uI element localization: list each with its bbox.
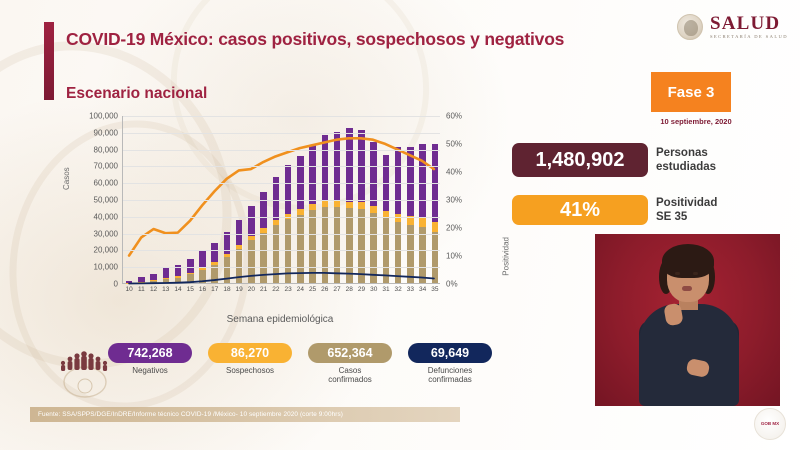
logo-text-block: SALUD SECRETARÍA DE SALUD [710, 14, 788, 40]
x-axis-tick-label: 27 [333, 286, 340, 293]
stat-personas-label-line1: Personas [656, 146, 716, 160]
y-axis-tick-label: 60,000 [94, 179, 118, 188]
legend-value-pill: 742,268 [108, 343, 192, 363]
grid-line [123, 116, 440, 117]
grid-line [123, 166, 440, 167]
phase-date: 10 septiembre, 2020 [651, 117, 741, 126]
legend-label: Casosconfirmados [308, 366, 392, 384]
grid-line [123, 133, 440, 134]
x-axis-tick-label: 23 [284, 286, 291, 293]
gob-mx-watermark-icon: GOB MX [754, 408, 786, 440]
x-axis-tick-label: 24 [297, 286, 304, 293]
legend-label-line2: confirmados [308, 375, 392, 384]
x-axis-tick-label: 28 [346, 286, 353, 293]
stat-positividad-label: Positividad SE 35 [656, 196, 717, 224]
legend-item: 86,270Sospechosos [208, 343, 292, 384]
legend-value-pill: 652,364 [308, 343, 392, 363]
y-axis-title: Casos [62, 167, 71, 190]
x-axis-tick-label: 34 [419, 286, 426, 293]
legend-label: Negativos [108, 366, 192, 375]
screenshot-root: COVID-19 México: casos positivos, sospec… [0, 0, 800, 450]
grid-line [123, 217, 440, 218]
logo-subtitle: SECRETARÍA DE SALUD [710, 35, 788, 40]
x-axis-tick-label: 12 [150, 286, 157, 293]
grid-line [123, 234, 440, 235]
x-axis-tick-label: 31 [382, 286, 389, 293]
y2-axis-tick-label: 20% [446, 224, 462, 233]
line-series-defunciones [129, 273, 434, 284]
y-axis-tick-label: 10,000 [94, 263, 118, 272]
y-axis-tick-label: 100,000 [89, 112, 118, 121]
chart-container: Casos Positividad Semana epidemiológica … [60, 112, 500, 327]
legend-label: Defuncionesconfirmadas [408, 366, 492, 384]
x-axis-tick-label: 25 [309, 286, 316, 293]
logo-wordmark: SALUD [710, 14, 788, 33]
line-series-positividad [129, 138, 434, 255]
x-axis-tick-label: 17 [211, 286, 218, 293]
legend-label-line1: Negativos [108, 366, 192, 375]
y-axis-tick-label: 90,000 [94, 128, 118, 137]
y-axis-tick-label: 0 [114, 280, 118, 289]
y2-axis-tick-label: 10% [446, 252, 462, 261]
legend-label-line1: Sospechosos [208, 366, 292, 375]
stat-personas-label-line2: estudiadas [656, 160, 716, 174]
x-axis-tick-label: 19 [236, 286, 243, 293]
legend-item: 742,268Negativos [108, 343, 192, 384]
stat-personas-label: Personas estudiadas [656, 146, 716, 174]
grid-line [123, 150, 440, 151]
legend-item: 652,364Casosconfirmados [308, 343, 392, 384]
stat-positividad-label-line1: Positividad [656, 196, 717, 210]
y-axis-tick-label: 50,000 [94, 196, 118, 205]
y-axis-tick-label: 70,000 [94, 162, 118, 171]
plot-area: 1011121314151617181920212223242526272829… [122, 116, 440, 284]
chart-legend: 742,268Negativos86,270Sospechosos652,364… [108, 343, 492, 384]
grid-line [123, 200, 440, 201]
y-axis-tick-label: 40,000 [94, 212, 118, 221]
stat-positividad-label-line2: SE 35 [656, 210, 717, 224]
grid-line [123, 250, 440, 251]
x-axis-tick-label: 15 [187, 286, 194, 293]
y2-axis-title: Positividad [502, 237, 511, 276]
x-axis-tick-label: 22 [272, 286, 279, 293]
source-text: Fuente: SSA/SPPS/DGE/InDRE/Informe técni… [30, 411, 343, 418]
x-axis-tick-label: 32 [395, 286, 402, 293]
x-axis-tick-label: 20 [248, 286, 255, 293]
slide-subtitle: Escenario nacional [66, 85, 207, 103]
y2-axis-tick-label: 50% [446, 140, 462, 149]
stat-personas-value: 1,480,902 [512, 143, 648, 177]
y2-axis-tick-label: 40% [446, 168, 462, 177]
y-axis-tick-label: 20,000 [94, 246, 118, 255]
phase-badge: Fase 3 [651, 72, 731, 112]
stat-positividad: 41% Positividad SE 35 [512, 195, 717, 225]
salud-logo: SALUD SECRETARÍA DE SALUD [677, 14, 788, 40]
x-axis-tick-label: 13 [162, 286, 169, 293]
grid-line [123, 183, 440, 184]
y-axis-tick-label: 80,000 [94, 145, 118, 154]
y-axis-tick-label: 30,000 [94, 229, 118, 238]
grid-line [123, 267, 440, 268]
presentation-slide: COVID-19 México: casos positivos, sospec… [0, 0, 800, 450]
x-axis-tick-label: 33 [407, 286, 414, 293]
x-axis-tick-label: 18 [223, 286, 230, 293]
legend-item: 69,649Defuncionesconfirmadas [408, 343, 492, 384]
x-axis-title: Semana epidemiológica [60, 314, 500, 325]
x-axis-tick-label: 29 [358, 286, 365, 293]
x-axis-tick-label: 11 [138, 286, 145, 293]
y2-axis-tick-label: 30% [446, 196, 462, 205]
y2-axis-tick-label: 0% [446, 280, 458, 289]
interpreter-mouth [682, 286, 692, 291]
source-bar: Fuente: SSA/SPPS/DGE/InDRE/Informe técni… [30, 407, 460, 422]
interpreter-torso [639, 304, 739, 406]
page-title: COVID-19 México: casos positivos, sospec… [66, 29, 626, 50]
y2-axis-tick-label: 60% [446, 112, 462, 121]
legend-label: Sospechosos [208, 366, 292, 375]
stat-positividad-value: 41% [512, 195, 648, 225]
legend-label-line1: Casos [308, 366, 392, 375]
mexico-seal-icon [677, 14, 703, 40]
interpreter-hair-top [662, 244, 714, 278]
x-axis-tick-label: 16 [199, 286, 206, 293]
legend-value-pill: 69,649 [408, 343, 492, 363]
x-axis-tick-label: 35 [431, 286, 438, 293]
stat-personas-estudiadas: 1,480,902 Personas estudiadas [512, 143, 716, 177]
x-axis-tick-label: 21 [260, 286, 267, 293]
x-axis-tick-label: 26 [321, 286, 328, 293]
legend-value-pill: 86,270 [208, 343, 292, 363]
legend-label-line1: Defunciones [408, 366, 492, 375]
x-axis-tick-label: 30 [370, 286, 377, 293]
legend-label-line2: confirmadas [408, 375, 492, 384]
interpreter-eye [693, 272, 698, 275]
sign-language-interpreter-video [595, 234, 780, 406]
x-axis-tick-label: 10 [125, 286, 132, 293]
title-accent-bar [44, 22, 54, 100]
interpreter-eye [675, 272, 680, 275]
historic-figures-emblem-icon [52, 342, 118, 398]
x-axis-tick-label: 14 [174, 286, 181, 293]
